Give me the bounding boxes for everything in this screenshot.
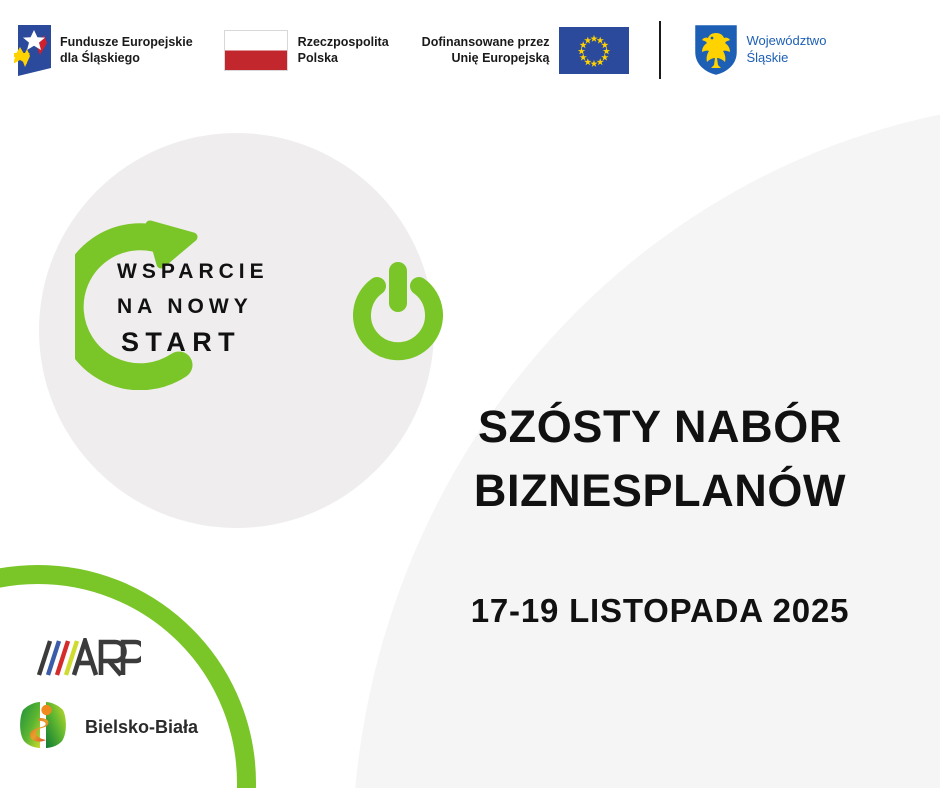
brand-line-2: NA NOWY — [117, 296, 347, 317]
eu-funds-silesia-label: Fundusze Europejskie dla Śląskiego — [60, 34, 193, 66]
headline-line-1: SZÓSTY NABÓR — [400, 395, 920, 459]
poland-label: Rzeczpospolita Polska — [298, 34, 389, 66]
arr-logo — [33, 638, 141, 683]
eu-funds-silesia-logo: Fundusze Europejskie dla Śląskiego — [0, 15, 193, 85]
power-button-icon — [349, 262, 447, 372]
headline-line-2: BIZNESPLANÓW — [400, 459, 920, 523]
funding-logo-bar: Fundusze Europejskie dla Śląskiego Rzecz… — [0, 0, 940, 100]
brand-wordmark: WSPARCIE NA NOWY START — [117, 261, 347, 356]
bielsko-biala-emblem-icon — [18, 698, 68, 757]
wsparcie-na-nowy-start-logo: WSPARCIE NA NOWY START — [75, 215, 395, 390]
bielsko-biala-label: Bielsko-Biała — [85, 717, 198, 738]
brand-line-3: START — [121, 329, 347, 356]
poland-flag-logo: Rzeczpospolita Polska — [224, 15, 389, 85]
poster-canvas: Fundusze Europejskie dla Śląskiego Rzecz… — [0, 0, 940, 788]
logo-bar-divider — [659, 21, 661, 79]
eu-funding-label: Dofinansowane przez Unię Europejską — [422, 34, 550, 66]
silesian-voivodeship-logo: Województwo Śląskie — [695, 15, 826, 85]
bielsko-biala-logo: Bielsko-Biała — [18, 698, 198, 757]
european-union-logo: Dofinansowane przez Unię Europejską — [422, 15, 630, 85]
poland-flag-icon — [224, 30, 288, 71]
event-date: 17-19 LISTOPADA 2025 — [400, 592, 920, 630]
silesian-voivodeship-label: Województwo Śląskie — [746, 33, 826, 67]
page-title: SZÓSTY NABÓR BIZNESPLANÓW — [400, 395, 920, 523]
brand-line-1: WSPARCIE — [117, 261, 347, 282]
european-union-flag-icon — [559, 27, 629, 74]
silesian-eagle-crest-icon — [695, 25, 737, 75]
eu-funds-flag-icon — [14, 25, 51, 76]
